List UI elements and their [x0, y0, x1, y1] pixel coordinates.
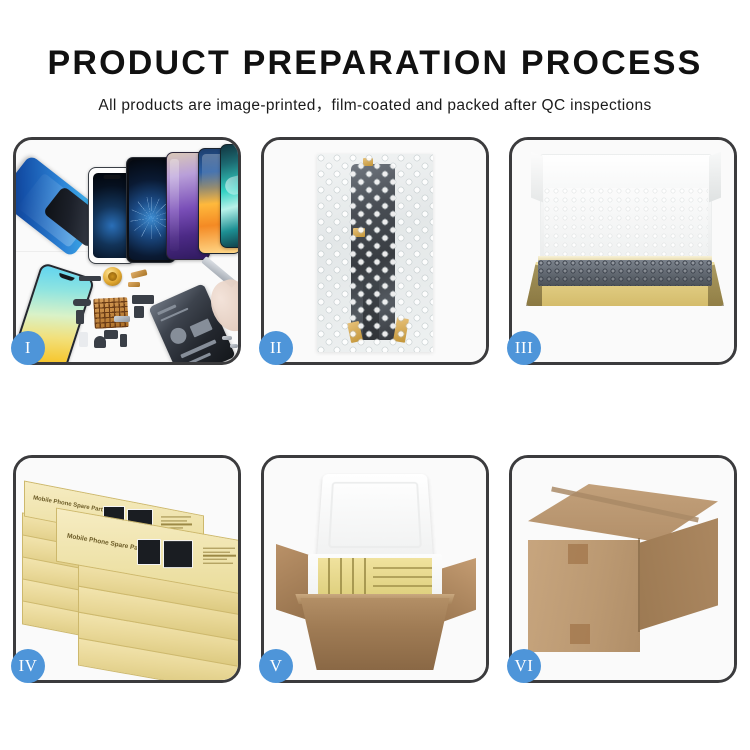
label-spec-lines [203, 548, 238, 566]
process-step-4: Mobile Phone Spare Parts [13, 455, 241, 683]
part-camera-icon [104, 330, 118, 339]
carton-vertical-edge-icon [638, 538, 640, 632]
foam-lid-icon [317, 474, 434, 561]
part-sim-tray-icon [79, 332, 88, 347]
carton-tape-lower-icon [570, 624, 590, 644]
bubble-texture [317, 154, 433, 352]
part-copper-b-icon [128, 282, 140, 287]
product-preparation-infographic: PRODUCT PREPARATION PROCESS All products… [0, 0, 750, 750]
process-step-5: V [261, 455, 489, 683]
part-screw-a-icon [222, 336, 232, 340]
carton-body-icon [294, 598, 456, 670]
dark-bubble-wrap-icon [538, 260, 712, 286]
phone-teal-icon [220, 144, 238, 248]
step-1-image [16, 140, 238, 362]
step-5-image [264, 458, 486, 680]
part-bracket-icon [114, 316, 130, 322]
step-badge: IV [11, 649, 45, 683]
gold-coil-part-icon [103, 267, 122, 286]
step-badge: I [11, 331, 45, 365]
part-screw-b-icon [230, 344, 238, 348]
step-badge: V [259, 649, 293, 683]
bubble-bag-icon [317, 154, 433, 352]
step-3-image [512, 140, 734, 362]
carton-tape-upper-icon [568, 544, 588, 564]
part-speaker-icon [94, 336, 106, 348]
part-flex-icon [132, 295, 154, 304]
part-button-icon [120, 334, 127, 347]
copper-grid-part-icon [93, 297, 129, 329]
foam-sheet-icon [544, 188, 708, 266]
step-badge: II [259, 331, 293, 365]
process-step-1: I [13, 137, 241, 365]
header: PRODUCT PREPARATION PROCESS All products… [0, 0, 750, 115]
step-badge: VI [507, 649, 541, 683]
process-step-grid: I II [13, 137, 737, 682]
part-copper-a-icon [131, 269, 148, 279]
part-connector-b-icon [76, 310, 84, 324]
step-2-image [264, 140, 486, 362]
step-badge: III [507, 331, 541, 365]
label-phone-image [137, 539, 161, 565]
step-6-image [512, 458, 734, 680]
process-step-3: III [509, 137, 737, 365]
step-4-image: Mobile Phone Spare Parts [16, 458, 238, 680]
process-step-6: VI [509, 455, 737, 683]
page-title: PRODUCT PREPARATION PROCESS [0, 46, 750, 80]
part-strip-icon [79, 276, 101, 281]
part-chip-icon [134, 306, 144, 318]
box-stack: Mobile Phone Spare Parts [16, 458, 238, 680]
page-subtitle: All products are image-printed，film-coat… [0, 93, 750, 115]
part-connector-a-icon [73, 299, 91, 306]
label-phone-image [163, 540, 193, 568]
process-step-2: II [261, 137, 489, 365]
